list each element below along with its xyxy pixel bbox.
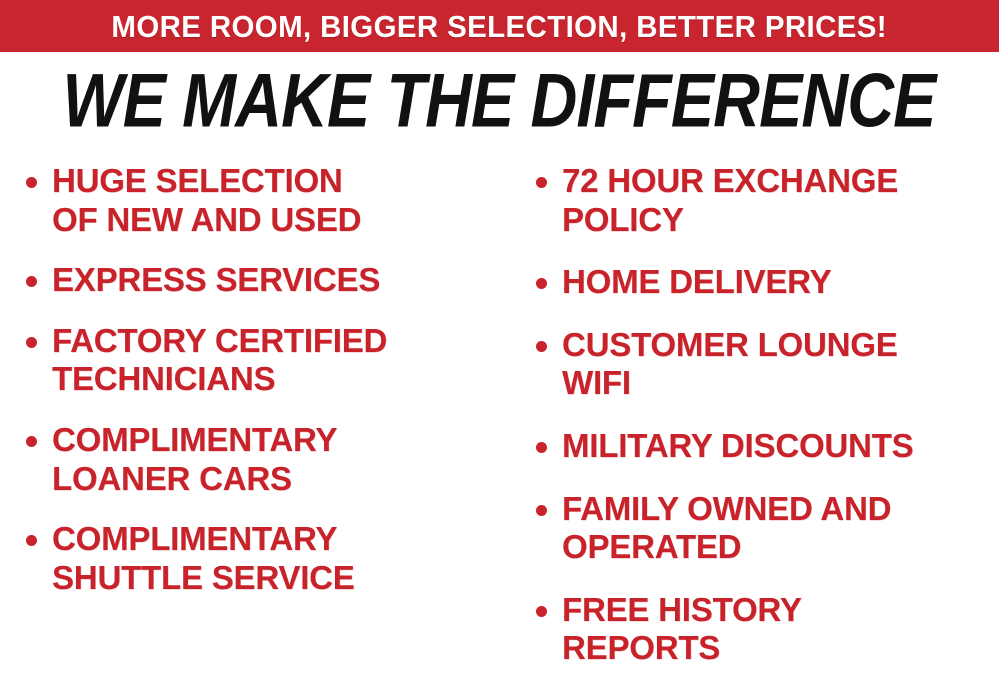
top-banner-text: MORE ROOM, BIGGER SELECTION, BETTER PRIC…	[112, 11, 888, 42]
list-item: HUGE SELECTION OF NEW AND USED	[18, 162, 510, 239]
list-item-line-2: SHUTTLE SERVICE	[52, 559, 510, 598]
list-item-line-1: FACTORY CERTIFIED	[52, 322, 510, 361]
list-item: COMPLIMENTARY LOANER CARS	[18, 421, 510, 498]
list-item-line-1: HUGE SELECTION	[52, 162, 510, 201]
list-item: CUSTOMER LOUNGE WIFI	[528, 326, 999, 403]
list-item-line-2: REPORTS	[562, 629, 999, 668]
list-item-line-2: LOANER CARS	[52, 460, 510, 499]
list-item: HOME DELIVERY	[528, 263, 999, 302]
list-item-line-1: MILITARY DISCOUNTS	[562, 427, 999, 466]
benefits-column-left: HUGE SELECTION OF NEW AND USED EXPRESS S…	[0, 150, 510, 619]
list-item-line-1: CUSTOMER LOUNGE	[562, 326, 999, 365]
page-title: WE MAKE THE DIFFERENCE	[63, 63, 936, 139]
list-item: FACTORY CERTIFIED TECHNICIANS	[18, 322, 510, 399]
benefits-columns: HUGE SELECTION OF NEW AND USED EXPRESS S…	[0, 150, 999, 692]
benefits-list-right: 72 HOUR EXCHANGE POLICY HOME DELIVERY CU…	[528, 162, 999, 668]
list-item-line-2: OPERATED	[562, 528, 999, 567]
headline-container: WE MAKE THE DIFFERENCE	[0, 60, 999, 142]
benefits-list-left: HUGE SELECTION OF NEW AND USED EXPRESS S…	[18, 162, 510, 597]
list-item-line-2: WIFI	[562, 364, 999, 403]
list-item-line-2: OF NEW AND USED	[52, 201, 510, 240]
list-item: COMPLIMENTARY SHUTTLE SERVICE	[18, 520, 510, 597]
list-item: MILITARY DISCOUNTS	[528, 427, 999, 466]
list-item-line-1: COMPLIMENTARY	[52, 520, 510, 559]
list-item-line-1: FREE HISTORY	[562, 591, 999, 630]
benefits-column-right: 72 HOUR EXCHANGE POLICY HOME DELIVERY CU…	[510, 150, 999, 692]
list-item-line-1: EXPRESS SERVICES	[52, 261, 510, 300]
list-item-line-1: FAMILY OWNED AND	[562, 490, 999, 529]
list-item-line-1: COMPLIMENTARY	[52, 421, 510, 460]
list-item-line-2: POLICY	[562, 201, 999, 240]
list-item: FREE HISTORY REPORTS	[528, 591, 999, 668]
list-item: EXPRESS SERVICES	[18, 261, 510, 300]
promo-poster: MORE ROOM, BIGGER SELECTION, BETTER PRIC…	[0, 0, 999, 692]
list-item-line-1: HOME DELIVERY	[562, 263, 999, 302]
top-banner: MORE ROOM, BIGGER SELECTION, BETTER PRIC…	[0, 0, 999, 52]
list-item-line-1: 72 HOUR EXCHANGE	[562, 162, 999, 201]
list-item: FAMILY OWNED AND OPERATED	[528, 490, 999, 567]
list-item: 72 HOUR EXCHANGE POLICY	[528, 162, 999, 239]
list-item-line-2: TECHNICIANS	[52, 360, 510, 399]
